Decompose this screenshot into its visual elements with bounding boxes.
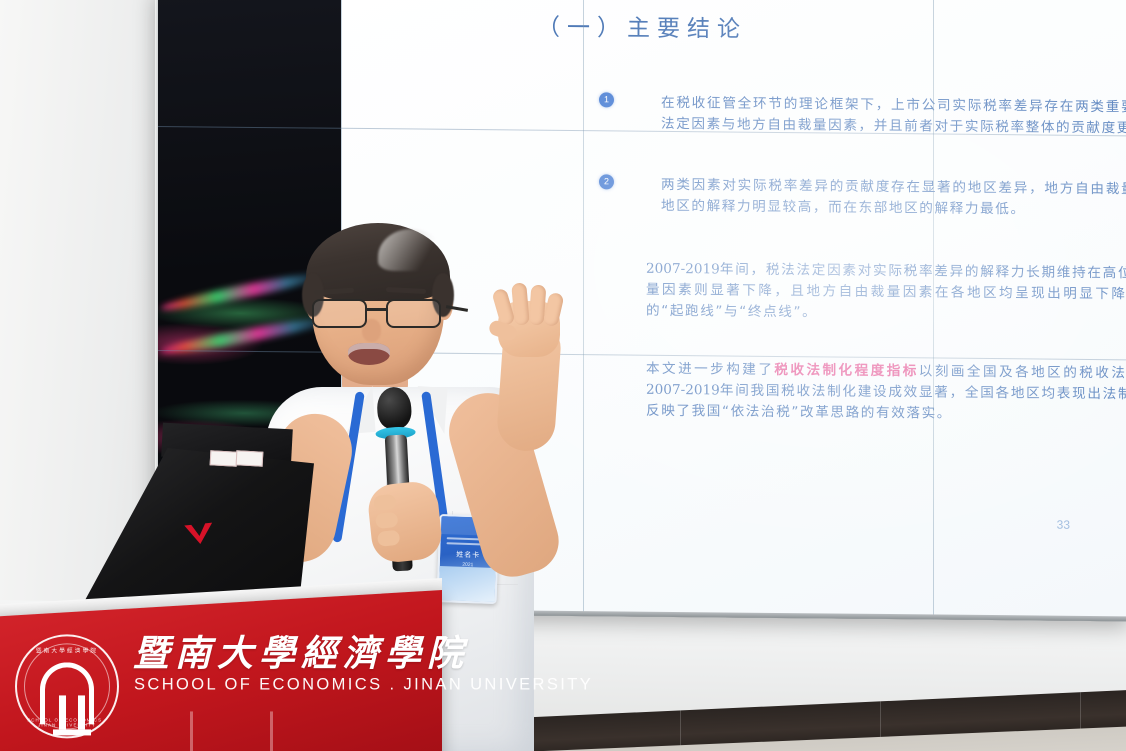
eyeglass-temple <box>446 305 468 311</box>
presenter-hand-gripping-mic <box>366 480 444 565</box>
bullet-text: 两类因素对实际税率差异的贡献度存在显著的地区差异，地方自由裁量因素在东北与西部地… <box>661 175 1126 223</box>
microphone-head <box>376 386 412 430</box>
paragraph-lead: 本文进一步构建了 <box>646 361 774 378</box>
slide-page-number: 33 <box>1057 518 1070 532</box>
presenter-raised-hand <box>488 283 570 359</box>
jinan-university-seal-icon: 暨南大學經濟學院 SCHOOL OF ECONOMICS . JINAN UNI… <box>15 634 119 738</box>
presentation-photo: （一）主要结论 1 在税收征管全环节的理论框架下，上市公司实际税率差异存在两类重… <box>0 0 1126 751</box>
finger <box>511 282 530 325</box>
highlighted-term: 税收法制化程度指标 <box>774 362 918 379</box>
slide-title: （一）主要结论 <box>537 8 747 44</box>
legion-y-logo-icon <box>180 520 220 562</box>
seal-chinese-text: 暨南大學經濟學院 <box>17 646 117 654</box>
finger <box>542 292 564 328</box>
laptop-sticker <box>210 450 238 466</box>
eyeglass-lens-right <box>386 299 441 328</box>
podium-english-title: SCHOOL OF ECONOMICS . JINAN UNIVERSITY <box>134 675 593 694</box>
paragraph-year-range: 2007-2019 <box>646 382 720 399</box>
seal-english-text: SCHOOL OF ECONOMICS . JINAN UNIVERSITY <box>17 717 117 727</box>
eyeglass-bridge <box>367 308 386 311</box>
hair-gray-highlight <box>378 229 444 271</box>
podium-front-panel: 暨南大學經濟學院 SCHOOL OF ECONOMICS . JINAN UNI… <box>0 590 442 751</box>
paragraph-year-range: 2007-2019 <box>646 261 720 278</box>
eyeglass-lens-left <box>312 299 367 328</box>
bullet-marker-icon: 2 <box>599 174 614 189</box>
seal-arch-shape <box>40 662 94 724</box>
slide-paragraph-3: 2007-2019年间，税法法定因素对实际税率差异的解释力长期维持在高位水平，而… <box>646 259 1126 328</box>
slide-paragraph-4: 本文进一步构建了税收法制化程度指标以刻画全国及各地区的税收法治环境，结果发现，2… <box>646 359 1126 428</box>
slide-bullet-2: 2 两类因素对实际税率差异的贡献度存在显著的地区差异，地方自由裁量因素在东北与西… <box>599 174 1126 222</box>
mouth-speaking <box>348 343 390 365</box>
paragraph-mid: 以刻画全国及各地区的税收法治环境，结果发现， <box>919 363 1126 382</box>
eyeglasses <box>310 299 450 329</box>
badge-graphic <box>439 566 496 602</box>
panel-seam-vertical <box>933 0 934 619</box>
laptop-sticker <box>236 450 264 466</box>
bullet-marker-icon: 1 <box>599 92 614 107</box>
podium-chinese-title: 暨南大學經濟學院 <box>133 624 469 676</box>
